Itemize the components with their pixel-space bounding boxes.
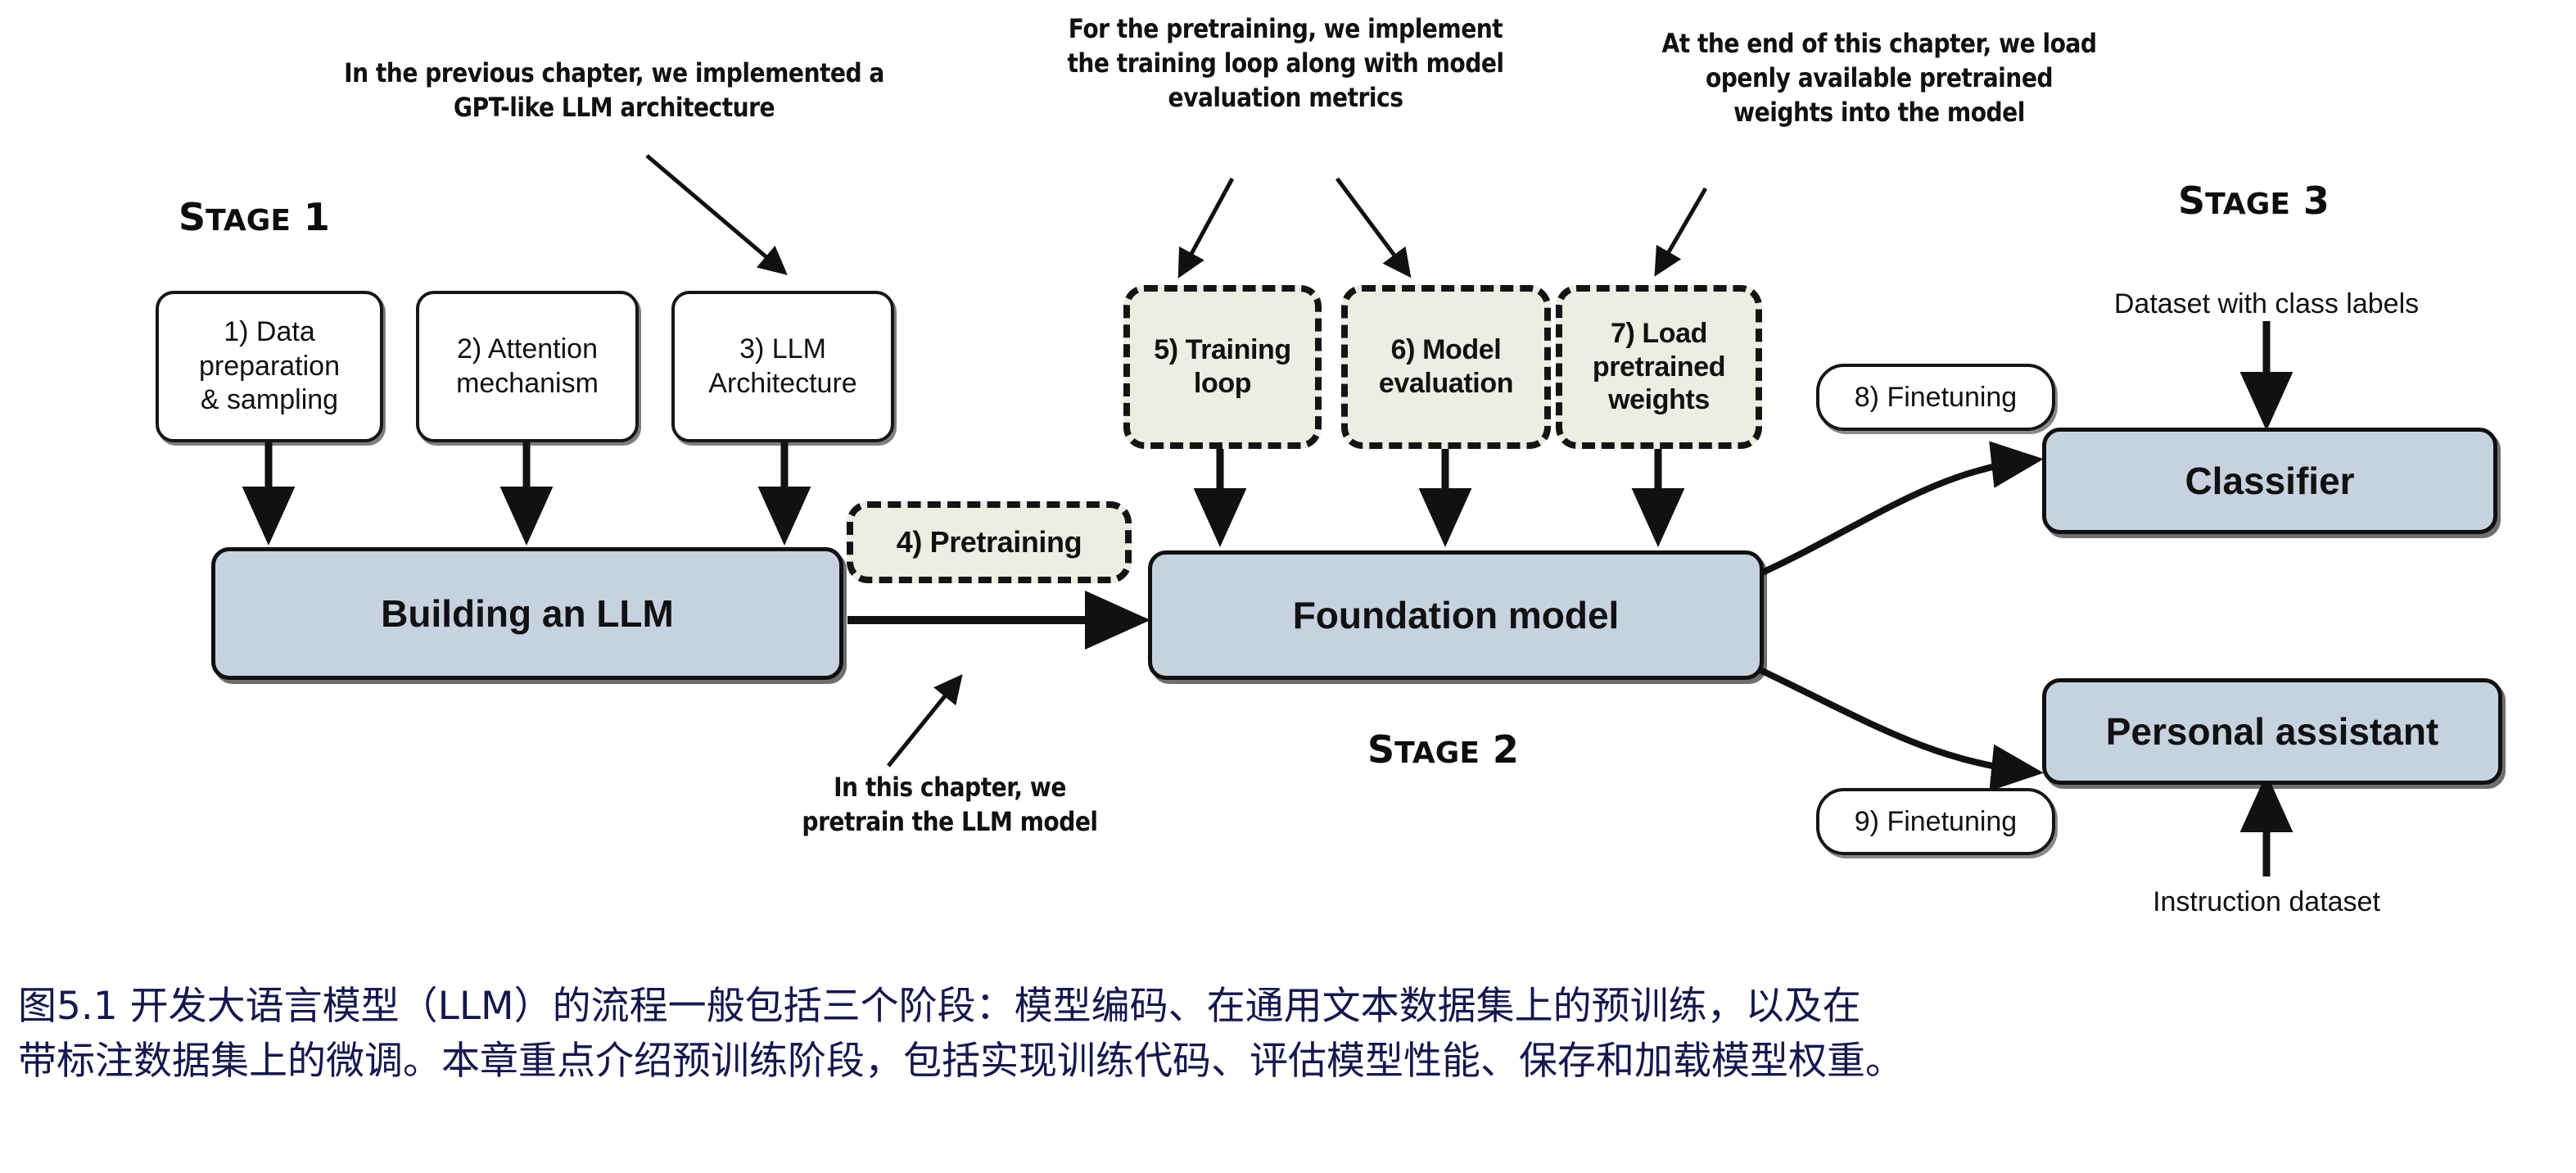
step-1-line1: 1) Data <box>224 315 315 349</box>
badge-pretraining-label: 4) Pretraining <box>897 524 1082 559</box>
figure-caption: 图5.1 开发大语言模型（LLM）的流程一般包括三个阶段：模型编码、在通用文本数… <box>18 980 2565 1089</box>
step-box-model-evaluation[interactable]: 6) Model evaluation <box>1341 285 1551 449</box>
outcome-building-an-llm-label: Building an LLM <box>381 591 674 636</box>
stage-3-rest: TAGE <box>2205 188 2290 221</box>
step-3-line2: Architecture <box>708 367 856 401</box>
step-7-line2: pretrained <box>1593 351 1725 384</box>
annotation-pretraining-note-line1: For the pretraining, we implement <box>1026 11 1545 46</box>
stage-3-prefix: S <box>2178 179 2205 223</box>
step-7-line3: weights <box>1608 383 1710 417</box>
step-box-training-loop[interactable]: 5) Training loop <box>1123 285 1322 449</box>
pointer-load-weights <box>1658 188 1706 270</box>
step-3-line1: 3) LLM <box>739 333 826 366</box>
outcome-classifier-label: Classifier <box>2185 459 2354 503</box>
stage-1-number: 1 <box>304 195 330 239</box>
annotation-load-weights-line2: openly available pretrained <box>1627 61 2131 95</box>
outcome-classifier[interactable]: Classifier <box>2042 428 2497 534</box>
stage-3-number: 3 <box>2303 179 2330 223</box>
annotation-pretraining-note-line3: evaluation metrics <box>1026 80 1545 115</box>
outcome-foundation-model-label: Foundation model <box>1293 593 1620 637</box>
step-6-line2: evaluation <box>1379 367 1513 401</box>
label-dataset-with-class-labels: Dataset with class labels <box>2080 288 2453 320</box>
step-1-line3: & sampling <box>201 383 338 417</box>
label-instruction-dataset: Instruction dataset <box>2111 886 2422 918</box>
pointer-this-chapter <box>888 680 958 766</box>
stage-3-label: STAGE 3 <box>2178 179 2330 223</box>
badge-pretraining[interactable]: 4) Pretraining <box>847 501 1132 583</box>
step-box-attention-mechanism[interactable]: 2) Attention mechanism <box>416 291 639 442</box>
stage-2-label: STAGE 2 <box>1367 727 1519 772</box>
step-5-line2: loop <box>1194 367 1251 401</box>
annotation-this-chapter: In this chapter, we pretrain the LLM mod… <box>748 770 1152 839</box>
annotation-prev-chapter: In the previous chapter, we implemented … <box>290 56 938 125</box>
annotation-this-chapter-line2: pretrain the LLM model <box>748 804 1152 839</box>
pointer-training-loop <box>1182 179 1232 272</box>
stage-2-number: 2 <box>1493 727 1519 772</box>
outcome-building-an-llm[interactable]: Building an LLM <box>211 547 843 680</box>
step-7-line1: 7) Load <box>1611 317 1707 351</box>
annotation-prev-chapter-line1: In the previous chapter, we implemented … <box>290 56 938 90</box>
badge-finetuning-8-label: 8) Finetuning <box>1855 382 2017 414</box>
badge-finetuning-8[interactable]: 8) Finetuning <box>1816 364 2055 431</box>
annotation-this-chapter-line1: In this chapter, we <box>748 770 1152 804</box>
step-2-line1: 2) Attention <box>457 333 598 366</box>
stage-1-label: STAGE 1 <box>179 195 330 239</box>
annotation-load-weights-line1: At the end of this chapter, we load <box>1627 26 2131 61</box>
figure-caption-line2: 带标注数据集上的微调。本章重点介绍预训练阶段，包括实现训练代码、评估模型性能、保… <box>18 1035 2565 1089</box>
pointer-model-eval <box>1337 179 1407 272</box>
outcome-personal-assistant[interactable]: Personal assistant <box>2042 678 2502 785</box>
annotation-pretraining-note: For the pretraining, we implement the tr… <box>1026 11 1545 115</box>
outcome-personal-assistant-label: Personal assistant <box>2106 709 2439 754</box>
label-dataset-with-class-labels-text: Dataset with class labels <box>2114 288 2419 319</box>
badge-finetuning-9-label: 9) Finetuning <box>1855 806 2017 838</box>
annotation-prev-chapter-line2: GPT-like LLM architecture <box>290 90 938 125</box>
stage-1-rest: TAGE <box>206 204 291 238</box>
step-5-line1: 5) Training <box>1154 333 1291 367</box>
arrow-to-assistant <box>1760 670 2031 772</box>
annotation-load-weights-note: At the end of this chapter, we load open… <box>1627 26 2131 130</box>
annotation-pretraining-note-line2: the training loop along with model <box>1026 46 1545 80</box>
stage-1-prefix: S <box>179 195 206 239</box>
step-1-line2: preparation <box>199 350 340 383</box>
step-box-llm-architecture[interactable]: 3) LLM Architecture <box>671 291 894 442</box>
label-instruction-dataset-text: Instruction dataset <box>2153 886 2380 917</box>
step-6-line1: 6) Model <box>1391 333 1502 367</box>
annotation-load-weights-line3: weights into the model <box>1627 95 2131 129</box>
stage-2-prefix: S <box>1367 727 1394 772</box>
step-box-data-preparation[interactable]: 1) Data preparation & sampling <box>156 291 383 442</box>
figure-canvas: In the previous chapter, we implemented … <box>0 0 2576 1173</box>
step-box-load-pretrained-weights[interactable]: 7) Load pretrained weights <box>1556 285 1762 449</box>
figure-caption-line1: 图5.1 开发大语言模型（LLM）的流程一般包括三个阶段：模型编码、在通用文本数… <box>18 980 2565 1035</box>
pointer-prev-chapter <box>647 156 782 270</box>
outcome-foundation-model[interactable]: Foundation model <box>1148 550 1764 680</box>
step-2-line2: mechanism <box>456 367 599 401</box>
arrow-to-classifier <box>1760 460 2031 573</box>
stage-2-rest: TAGE <box>1394 736 1480 770</box>
badge-finetuning-9[interactable]: 9) Finetuning <box>1816 788 2055 855</box>
